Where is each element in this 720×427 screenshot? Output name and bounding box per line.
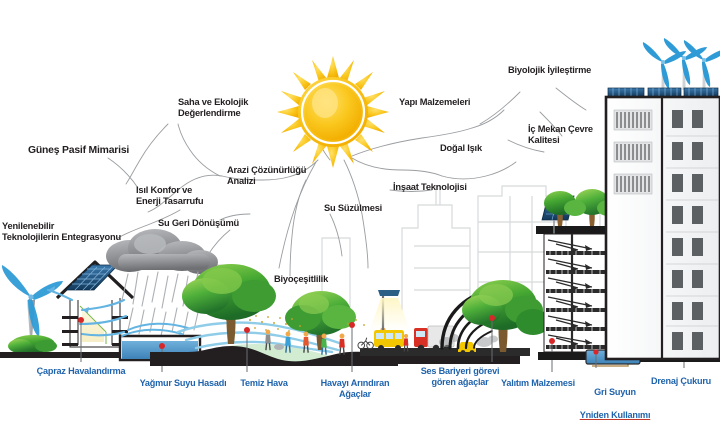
label-temiz-hava: Temiz Hava (224, 378, 304, 389)
label-saha-ve-ekolojik-degerlendirme: Saha ve Ekolojik Değerlendirme (178, 97, 248, 120)
sun-icon (277, 56, 389, 168)
label-yenilenebilir-teknolojilerin-entegrasyonu: Yenilenebilir Teknolojilerin Entegrasyon… (2, 221, 121, 244)
label-biyolojik-iyilestirme: Biyolojik İyileştirme (508, 65, 591, 76)
tall-tower-building (606, 38, 720, 359)
label-dogal-isik: Doğal Işık (440, 143, 482, 154)
wind-turbine-icon (2, 265, 63, 353)
greywater-line-1: Gri Suyun (594, 387, 636, 397)
label-biyocesitlilik: Biyoçeşitlilik (274, 274, 328, 285)
label-isil-konfor-ve-enerji-tasarrufu: Isıl Konfor ve Enerji Tasarrufu (136, 185, 203, 208)
label-su-geri-donusumu: Su Geri Dönüşümü (158, 218, 239, 229)
label-insaat-teknolojisi: İnşaat Teknolojisi (393, 182, 467, 193)
wind-turbine-icon (664, 38, 707, 90)
label-su-suzulmesi: Su Süzülmesi (324, 203, 382, 214)
label-yapi-malzemeleri: Yapı Malzemeleri (399, 97, 470, 108)
infographic-canvas: Güneş Pasif Mimarisi Yenilenebilir Tekno… (0, 0, 720, 427)
label-havayi-arindiran-agaclar: Havayı Arındıran Ağaçlar (300, 378, 410, 401)
label-arazi-cozunurlugu-analizi: Arazi Çözünürlüğü Analizi (227, 165, 306, 188)
label-drenaj-cukuru: Drenaj Çukuru (635, 376, 720, 387)
label-ic-mekan-cevre-kalitesi: İç Mekan Çevre Kalitesi (528, 124, 593, 147)
wind-turbine-icon (643, 42, 686, 90)
label-capraz-havalandirma: Çapraz Havalandırma (16, 366, 146, 377)
solar-panel-icon (608, 88, 718, 97)
greywater-line-2: Yniden Kullanımı (580, 410, 651, 420)
label-gunes-pasif-mimarisi: Güneş Pasif Mimarisi (28, 145, 129, 158)
